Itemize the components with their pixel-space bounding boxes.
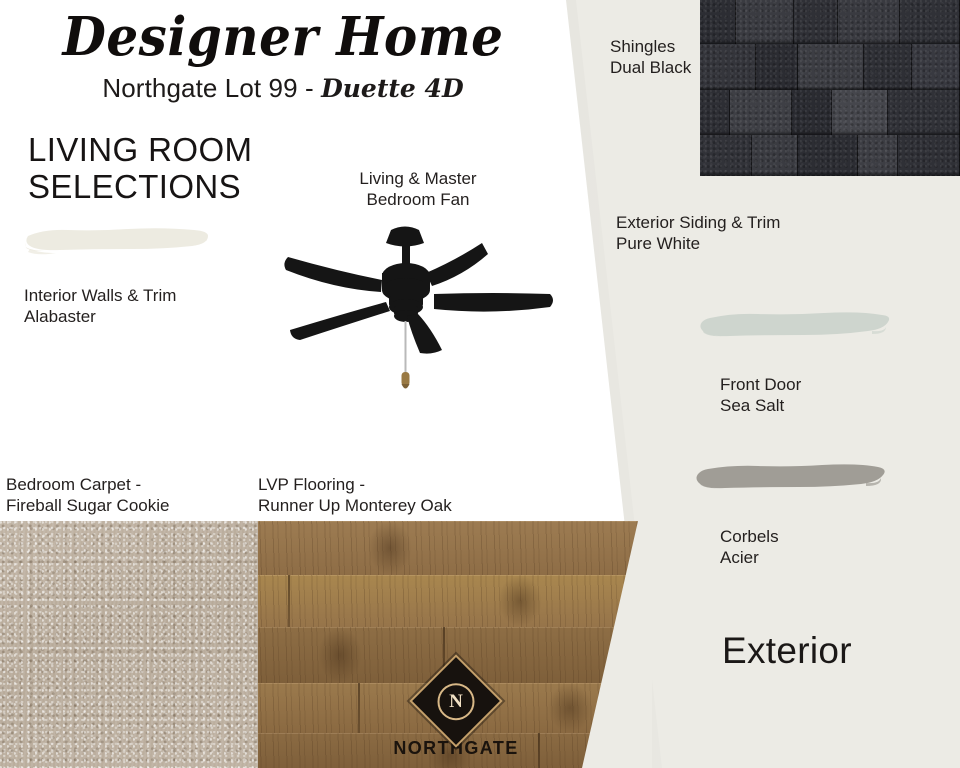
exterior-section-heading: Exterior [722,629,942,673]
label-lvp-flooring: LVP Flooring - Runner Up Monterey Oak [258,474,558,516]
ceiling-fan-label-line1: Living & Master [318,168,518,189]
label-interior-walls-line2: Alabaster [24,306,264,327]
label-front-door: Front Door Sea Salt [720,374,960,416]
page-title: Designer Home [0,6,566,67]
plank [258,575,652,628]
swatch-front-door-sea-salt [700,312,890,342]
ceiling-fan-icon [258,218,583,418]
label-corbels-line1: Corbels [720,526,960,547]
plank [258,521,652,576]
label-interior-walls-line1: Interior Walls & Trim [24,285,264,306]
label-exterior-siding-line1: Exterior Siding & Trim [616,212,916,233]
swatch-corbels-acier [696,464,886,494]
label-lvp-flooring-line1: LVP Flooring - [258,474,558,495]
label-corbels: Corbels Acier [720,526,960,568]
label-front-door-line1: Front Door [720,374,960,395]
label-bedroom-carpet-line1: Bedroom Carpet - [6,474,256,495]
subtitle-lot: Northgate Lot 99 - [102,73,321,103]
northgate-diamond-icon: N [409,654,502,747]
sample-bedroom-carpet [0,521,258,768]
section-heading-line2: SELECTIONS [28,168,348,205]
label-interior-walls: Interior Walls & Trim Alabaster [24,285,264,327]
section-heading-line1: LIVING ROOM [28,131,348,168]
living-room-section-heading: LIVING ROOM SELECTIONS [28,131,348,205]
board-header: Designer Home Northgate Lot 99 - Duette … [0,8,566,105]
ceiling-fan-label: Living & Master Bedroom Fan [318,168,518,210]
board-subtitle: Northgate Lot 99 - Duette 4D [0,72,566,105]
sample-shingles-dual-black [700,0,960,176]
label-corbels-line2: Acier [720,547,960,568]
label-lvp-flooring-line2: Runner Up Monterey Oak [258,495,558,516]
label-exterior-siding-line2: Pure White [616,233,916,254]
subtitle-plan-name: Duette 4D [321,74,464,103]
swatch-interior-walls-alabaster [22,227,210,258]
selection-board: Designer Home Northgate Lot 99 - Duette … [0,0,960,768]
northgate-monogram: N [438,683,475,720]
label-front-door-line2: Sea Salt [720,395,960,416]
label-bedroom-carpet-line2: Fireball Sugar Cookie [6,495,256,516]
ceiling-fan-label-line2: Bedroom Fan [318,189,518,210]
label-bedroom-carpet: Bedroom Carpet - Fireball Sugar Cookie [6,474,256,516]
label-exterior-siding: Exterior Siding & Trim Pure White [616,212,916,254]
northgate-logo: N NORTHGATE [397,668,515,768]
